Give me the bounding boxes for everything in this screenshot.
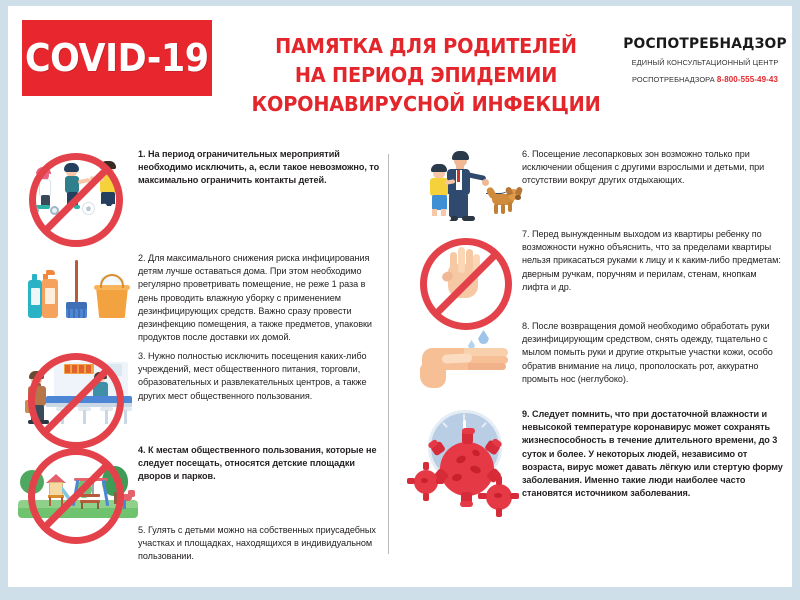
poster-header: COVID-19 ПАМЯТКА ДЛЯ РОДИТЕЛЕЙ НА ПЕРИОД… [8, 6, 792, 138]
list-item: .art[data-name="no-touching-hand-icon"] … [404, 228, 784, 320]
covid19-badge-label: COVID-19 [25, 36, 209, 80]
agency-phone[interactable]: 8-800-555-49-43 [717, 75, 778, 84]
prohibition-circle [28, 353, 124, 449]
list-item: 6. Посещение лесопарковых зон возможно т… [404, 148, 784, 226]
title-line-1: ПАМЯТКА ДЛЯ РОДИТЕЛЕЙ [251, 32, 601, 61]
list-item: 9. Следует помнить, что при достаточной … [404, 408, 784, 528]
handwashing-icon [404, 320, 522, 408]
list-item: 2. Для максимального снижения риска инфи… [16, 252, 384, 348]
agency-name: РОСПОТРЕБНАДЗОР [620, 36, 789, 52]
agency-center-line-1: ЕДИНЫЙ КОНСУЛЬТАЦИОННЫЙ ЦЕНТР [616, 58, 794, 69]
item-text: 2. Для максимального снижения риска инфи… [138, 252, 384, 344]
item-text: 5. Гулять с детьми можно на собственных … [138, 524, 384, 564]
prohibition-circle [420, 238, 512, 330]
agency-block: РОСПОТРЕБНАДЗОР ЕДИНЫЙ КОНСУЛЬТАЦИОННЫЙ … [616, 36, 794, 85]
virus-clock-icon [404, 408, 522, 528]
prohibition-circle [28, 448, 124, 544]
covid19-badge: COVID-19 [22, 20, 212, 96]
agency-center-line-2: РОСПОТРЕБНАДЗОРА 8-800-555-49-43 [616, 75, 794, 86]
item-text: 8. После возвращения домой необходимо об… [522, 320, 784, 386]
list-item: .art[data-name="no-children-playing-icon… [16, 148, 384, 248]
item-text: 3. Нужно полностью исключить посещения к… [138, 350, 384, 403]
title-line-3: КОРОНАВИРУСНОЙ ИНФЕКЦИИ [251, 90, 601, 119]
right-column: 6. Посещение лесопарковых зон возможно т… [404, 148, 784, 528]
item-text: 4. К местам общественного пользования, к… [138, 444, 384, 484]
page-title: ПАМЯТКА ДЛЯ РОДИТЕЛЕЙ НА ПЕРИОД ЭПИДЕМИИ… [240, 32, 612, 119]
prohibition-circle [29, 153, 123, 247]
title-line-2: НА ПЕРИОД ЭПИДЕМИИ [251, 61, 601, 90]
item-text: 9. Следует помнить, что при достаточной … [522, 408, 784, 500]
poster-page: COVID-19 ПАМЯТКА ДЛЯ РОДИТЕЛЕЙ НА ПЕРИОД… [8, 6, 792, 587]
no-touching-hand-icon: .art[data-name="no-touching-hand-icon"] … [404, 228, 522, 320]
no-public-places-icon: .art[data-name="no-public-places-icon"] … [16, 350, 138, 442]
no-children-playing-icon: .art[data-name="no-children-playing-icon… [16, 148, 138, 248]
list-item: .art[data-name="no-playground-icon"] .ba… [16, 444, 384, 506]
item-text: 7. Перед вынужденным выходом из квартиры… [522, 228, 784, 294]
list-item: 8. После возвращения домой необходимо об… [404, 320, 784, 408]
family-walking-dog-icon [404, 148, 522, 226]
item-text: 6. Посещение лесопарковых зон возможно т… [522, 148, 784, 188]
list-item: .art[data-name="no-public-places-icon"] … [16, 350, 384, 442]
column-divider [388, 154, 389, 554]
agency-center-label: РОСПОТРЕБНАДЗОРА [632, 75, 715, 84]
cleaning-supplies-icon [16, 252, 138, 348]
left-column: .art[data-name="no-children-playing-icon… [16, 148, 384, 564]
item-text: 1. На период ограничительных мероприятий… [138, 148, 384, 188]
